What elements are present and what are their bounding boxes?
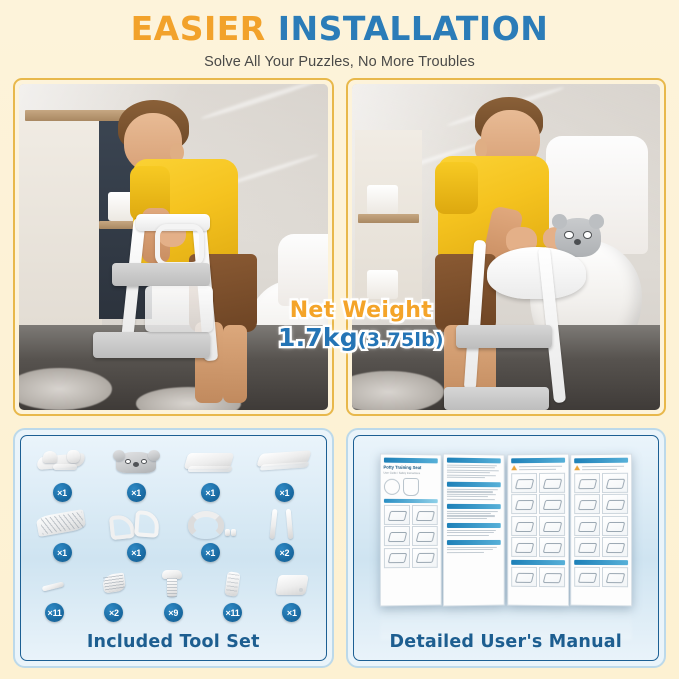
page-subtitle: Solve All Your Puzzles, No More Troubles <box>0 54 679 70</box>
step-thumbnail <box>574 567 601 587</box>
step-thumbnail <box>601 494 628 514</box>
part-art-support-rod <box>255 507 313 541</box>
manual-cover-subtitle: User Guide / Safety Instructions <box>383 472 438 476</box>
tool-item-u-shaped-seat-ring: ×1 <box>179 504 241 562</box>
product-handle <box>155 224 204 266</box>
step-thumbnail <box>601 567 628 587</box>
tool-item-ladder-step-mesh: ×1 <box>31 504 93 562</box>
product-step <box>444 387 549 410</box>
qty-badge: ×1 <box>127 543 146 562</box>
tool-grid: ×1 ×1 <box>25 442 322 624</box>
step-thumbnail <box>538 567 565 587</box>
toilet-paper-roll <box>367 185 398 214</box>
part-art-sleeve <box>204 567 262 601</box>
step-thumbnail <box>601 537 628 557</box>
step-thumbnail <box>411 526 437 546</box>
qty-badge: ×1 <box>275 483 294 502</box>
qty-badge: ×11 <box>223 603 242 622</box>
product-step <box>93 332 210 358</box>
tool-item-seat-frame: ×1 <box>31 444 93 502</box>
qty-badge: ×1 <box>282 603 301 622</box>
page-header-band <box>574 560 629 565</box>
panel-user-manual: Potty Training Seat User Guide / Safety … <box>346 428 667 668</box>
step-thumbnail <box>510 494 537 514</box>
part-art-bear-backrest <box>107 447 165 481</box>
user-manual-content: Potty Training Seat User Guide / Safety … <box>353 435 660 661</box>
qty-badge: ×1 <box>53 483 72 502</box>
part-art-u-shaped-seat-ring <box>181 507 239 541</box>
photo-frame-left <box>13 78 334 416</box>
manual-cover-title: Potty Training Seat <box>383 465 438 471</box>
photo-left <box>19 84 328 410</box>
tool-item-cover-plate: ×1 <box>262 564 321 622</box>
part-art-screw <box>144 567 202 601</box>
thumbnail-grid <box>383 505 438 568</box>
page-header-band <box>383 458 438 464</box>
qty-badge: ×1 <box>201 543 220 562</box>
toilet-tank <box>278 234 327 306</box>
page-header-band <box>574 458 629 464</box>
user-manual-caption: Detailed User's Manual <box>354 632 659 652</box>
step-thumbnail <box>411 505 437 525</box>
part-art-ladder-step-mesh <box>33 507 91 541</box>
photo-row: Net Weight 1.7kg(3.75lb) <box>13 78 666 416</box>
tool-row: ×1 ×1 <box>25 442 322 502</box>
manual-page-steps-1 <box>507 454 569 607</box>
manual-page-cover: Potty Training Seat User Guide / Safety … <box>380 453 442 606</box>
page-header-band <box>447 523 502 528</box>
tool-item-lower-step-board: ×1 <box>253 444 315 502</box>
step-thumbnail <box>383 526 410 546</box>
photo-right <box>352 84 661 410</box>
cabinet <box>19 110 102 325</box>
part-art-pin <box>26 567 84 601</box>
tool-item-sleeve: ×11 <box>203 564 262 622</box>
page-header-band <box>447 540 502 545</box>
boy-leg <box>223 325 248 403</box>
tool-item-triangular-side-frame: ×1 <box>105 504 167 562</box>
title-part-1: EASIER <box>131 9 266 48</box>
step-thumbnail <box>538 516 565 536</box>
page-header-band <box>447 504 502 509</box>
boy-sleeve <box>435 162 478 214</box>
manual-booklet: Potty Training Seat User Guide / Safety … <box>380 454 632 606</box>
qty-badge: ×9 <box>164 603 183 622</box>
product-infographic: EASIER INSTALLATION Solve All Your Puzzl… <box>0 0 679 679</box>
boy-shorts <box>435 254 497 332</box>
tool-row: ×11 ×2 <box>25 562 322 622</box>
tool-item-pin: ×11 <box>25 564 84 622</box>
photo-frame-right <box>346 78 667 416</box>
manual-page-steps-2 <box>570 454 632 607</box>
step-thumbnail <box>574 537 601 557</box>
tool-set-content: ×1 ×1 <box>20 435 327 661</box>
part-art-spring-washer <box>85 567 143 601</box>
qty-badge: ×1 <box>127 483 146 502</box>
section-band <box>383 499 438 503</box>
tool-item-upper-step-board: ×1 <box>179 444 241 502</box>
part-art-seat-frame <box>33 447 91 481</box>
title-part-2: INSTALLATION <box>278 9 549 48</box>
tool-row: ×1 ×1 <box>25 502 322 562</box>
step-thumbnail <box>510 537 537 557</box>
step-thumbnail <box>411 548 437 568</box>
tool-item-bear-backrest: ×1 <box>105 444 167 502</box>
page-header-band <box>447 482 502 488</box>
tool-item-screw: ×9 <box>144 564 203 622</box>
manual-page-text <box>443 453 505 606</box>
product-step <box>112 263 211 286</box>
qty-badge: ×2 <box>275 543 294 562</box>
step-thumbnail <box>601 473 628 493</box>
thumbnail-grid <box>574 567 629 587</box>
step-thumbnail <box>383 548 410 568</box>
part-art-cover-plate <box>263 567 321 601</box>
page-title: EASIER INSTALLATION <box>0 12 679 47</box>
product-seat <box>487 247 586 299</box>
step-thumbnail <box>601 516 628 536</box>
qty-badge: ×2 <box>104 603 123 622</box>
thumbnail-grid <box>574 473 629 558</box>
product-seat-folded <box>145 286 213 332</box>
page-header-band <box>510 560 565 565</box>
part-art-upper-step-board <box>181 447 239 481</box>
shelf-board <box>358 214 420 222</box>
thumbnail-grid <box>510 473 565 558</box>
step-thumbnail <box>574 473 601 493</box>
page-header-band <box>447 458 502 464</box>
step-thumbnail <box>538 494 565 514</box>
qty-badge: ×1 <box>201 483 220 502</box>
bottom-row: ×1 ×1 <box>13 428 666 668</box>
product-step <box>456 325 552 348</box>
step-thumbnail <box>574 494 601 514</box>
step-thumbnail <box>538 537 565 557</box>
qty-badge: ×11 <box>45 603 64 622</box>
step-thumbnail <box>510 516 537 536</box>
toilet-paper-roll <box>367 270 398 299</box>
header: EASIER INSTALLATION Solve All Your Puzzl… <box>0 0 679 70</box>
step-thumbnail <box>383 505 410 525</box>
tool-set-caption: Included Tool Set <box>21 632 326 652</box>
step-thumbnail <box>538 473 565 493</box>
bear-eye <box>564 231 573 239</box>
page-header-band <box>510 458 565 464</box>
step-thumbnail <box>510 473 537 493</box>
part-art-triangular-side-frame <box>107 507 165 541</box>
qty-badge: ×1 <box>53 543 72 562</box>
step-thumbnail <box>510 567 537 587</box>
panel-included-tool-set: ×1 ×1 <box>13 428 334 668</box>
step-thumbnail <box>574 516 601 536</box>
tool-item-support-rod: ×2 <box>253 504 315 562</box>
tool-item-spring-washer: ×2 <box>84 564 143 622</box>
thumbnail-grid <box>510 567 565 587</box>
part-art-lower-step-board <box>255 447 313 481</box>
